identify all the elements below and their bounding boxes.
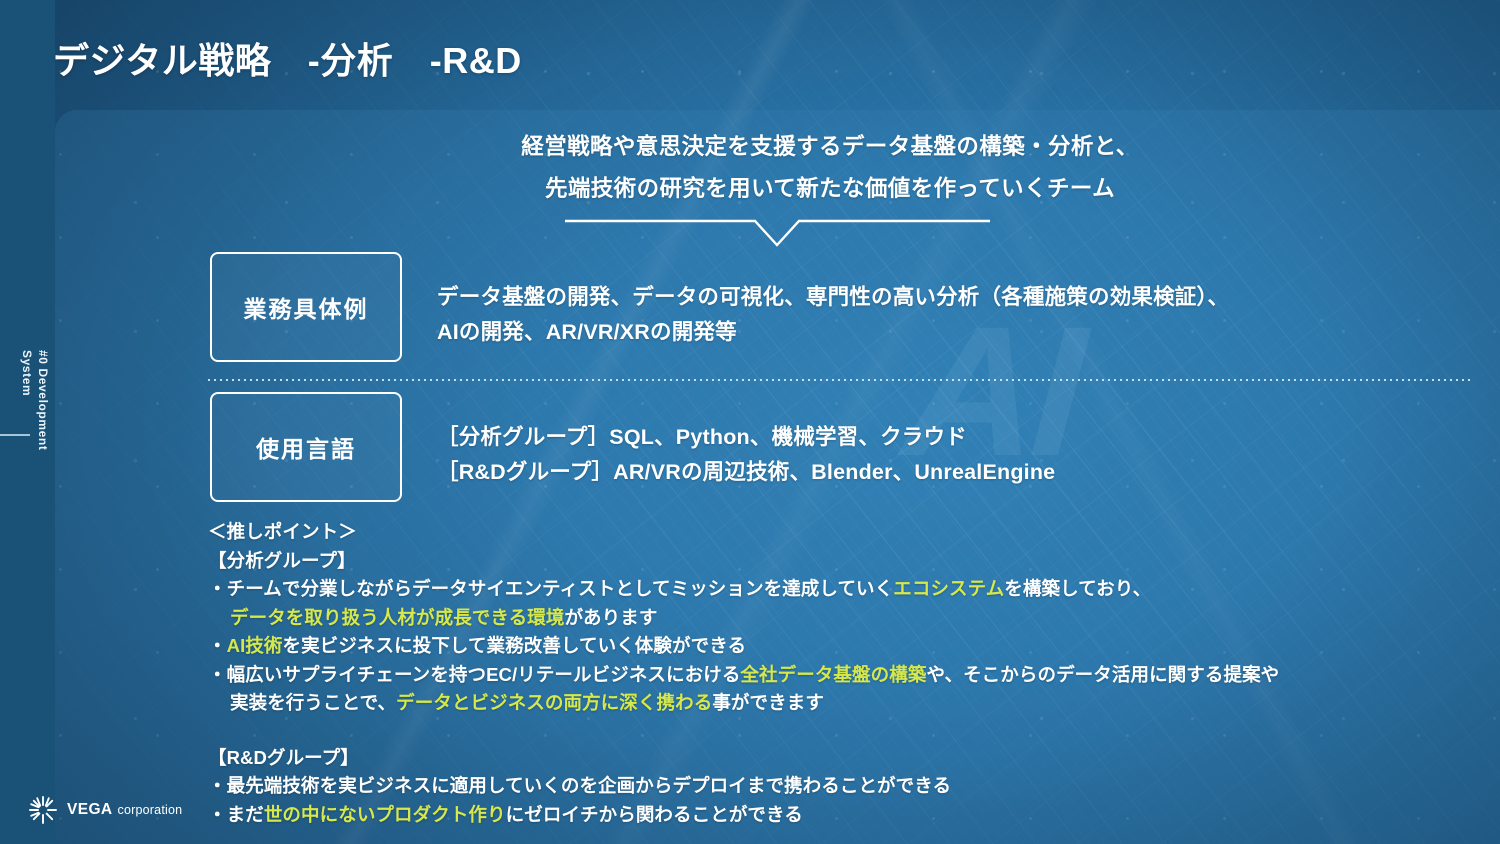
points-rd-heading: 【R&Dグループ】 [208,744,1458,773]
bullet-highlight: データを取り扱う人材が成長できる環境 [230,607,564,628]
left-rail [0,0,55,844]
text-work-examples: データ基盤の開発、データの可視化、専門性の高い分析（各種施策の効果検証）、 AI… [437,252,1229,350]
bullet-highlight: AI技術 [227,635,283,656]
bullet-text: を構築しており、 [1004,578,1151,599]
row-languages: 使用言語 ［分析グループ］SQL、Python、機械学習、クラウド ［R&Dグル… [210,392,1055,502]
bullet-highlight: 全社データ基盤の構築 [740,664,926,685]
bullet-highlight: エコシステム [893,578,1004,599]
tag-work-examples: 業務具体例 [210,252,402,362]
bullet-line: ・まだ世の中にないプロダクト作りにゼロイチから関わることができる [208,801,1458,830]
bullet-line: ・AI技術を実ビジネスに投下して業務改善していく体験ができる [208,632,1458,661]
points-heading: ＜推しポイント＞ [208,518,1458,547]
starburst-icon [28,795,58,825]
bullet-highlight: 世の中にないプロダクト作り [264,804,506,825]
dotted-divider [208,379,1470,381]
bullet-text: 実装を行うことで、 [230,692,396,713]
points-rd-list: ・最先端技術を実ビジネスに適用していくのを企画からデプロイまで携わることができる… [208,772,1458,829]
points-spacer [208,718,1458,744]
tag-languages: 使用言語 [210,392,402,502]
text-languages: ［分析グループ］SQL、Python、機械学習、クラウド ［R&Dグループ］AR… [437,392,1055,490]
logo-suffix: corporation [118,803,183,817]
subtitle-line-2: 先端技術の研究を用いて新たな価値を作っていくチーム [300,168,1360,210]
bullet-text: や、そこからのデータ活用に関する提案や [926,664,1279,685]
chevron-down-divider-icon [565,212,990,252]
slide-root: AI #0 Development System デジタル戦略 -分析 -R&D… [0,0,1500,844]
subtitle-line-1: 経営戦略や意思決定を支援するデータ基盤の構築・分析と、 [300,126,1360,168]
bullet-text: ・最先端技術を実ビジネスに適用していくのを企画からデプロイまで携わることができる [208,775,951,796]
bullet-text: ・幅広いサプライチェーンを持つEC/リテールビジネスにおける [208,664,740,685]
company-logo: VEGA corporation [28,795,182,825]
bullet-line: 実装を行うことで、データとビジネスの両方に深く携わる事ができます [208,689,1458,718]
logo-text: VEGA corporation [67,801,182,819]
bullet-line: ・幅広いサプライチェーンを持つEC/リテールビジネスにおける全社データ基盤の構築… [208,661,1458,690]
bullet-text: ・ [208,635,227,656]
bullet-highlight: データとビジネスの両方に深く携わる [396,692,712,713]
logo-name: VEGA [67,801,113,819]
bullet-text: ・チームで分業しながらデータサイエンティストとしてミッションを達成していく [208,578,893,599]
bullet-text: があります [564,607,657,628]
rail-tick-marker [0,434,30,436]
points-analysis-heading: 【分析グループ】 [208,547,1458,576]
bullet-line: ・チームで分業しながらデータサイエンティストとしてミッションを達成していくエコシ… [208,575,1458,604]
row-work-examples: 業務具体例 データ基盤の開発、データの可視化、専門性の高い分析（各種施策の効果検… [210,252,1229,362]
points-analysis-list: ・チームで分業しながらデータサイエンティストとしてミッションを達成していくエコシ… [208,575,1458,718]
bullet-text: にゼロイチから関わることができる [506,804,803,825]
page-title: デジタル戦略 -分析 -R&D [53,32,522,84]
bullet-text: ・まだ [208,804,264,825]
slide-subtitle: 経営戦略や意思決定を支援するデータ基盤の構築・分析と、 先端技術の研究を用いて新… [300,126,1360,210]
selling-points-block: ＜推しポイント＞ 【分析グループ】 ・チームで分業しながらデータサイエンティスト… [208,518,1458,829]
bullet-line: ・最先端技術を実ビジネスに適用していくのを企画からデプロイまで携わることができる [208,772,1458,801]
bullet-line: データを取り扱う人材が成長できる環境があります [208,604,1458,633]
bullet-text: 事ができます [712,692,824,713]
bullet-text: を実ビジネスに投下して業務改善していく体験ができる [283,635,747,656]
